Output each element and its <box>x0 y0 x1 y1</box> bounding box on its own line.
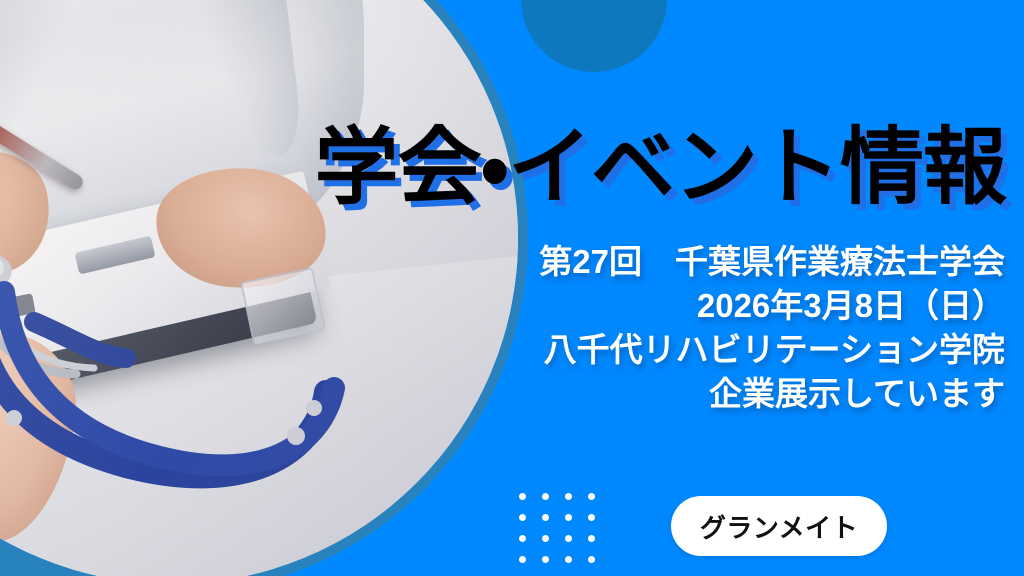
event-detail-line-venue: 八千代リハビリテーション学院 <box>245 328 1005 372</box>
dot-grid-decoration <box>519 493 611 576</box>
dot <box>542 535 549 542</box>
brand-cta-button[interactable]: グランメイト <box>671 496 887 556</box>
dot <box>588 556 595 563</box>
dot <box>565 535 572 542</box>
dot <box>542 556 549 563</box>
event-banner: 学会・イベント情報 第27回 千葉県作業療法士学会 2026年3月8日（日） 八… <box>0 0 1024 576</box>
dot <box>519 556 526 563</box>
dot <box>588 535 595 542</box>
dot <box>542 514 549 521</box>
dot <box>565 493 572 500</box>
dot <box>565 514 572 521</box>
event-detail-line-booth: 企業展示しています <box>245 372 1005 416</box>
dot <box>542 493 549 500</box>
dot <box>519 535 526 542</box>
event-detail-line-name: 第27回 千葉県作業療法士学会 <box>245 240 1005 284</box>
page-title: 学会・イベント情報 <box>206 125 1006 209</box>
decorative-circle-dark-blue <box>521 0 667 72</box>
dot <box>588 493 595 500</box>
dot <box>565 556 572 563</box>
dot <box>519 514 526 521</box>
event-detail-line-date: 2026年3月8日（日） <box>245 284 1005 328</box>
dot <box>588 514 595 521</box>
event-details: 第27回 千葉県作業療法士学会 2026年3月8日（日） 八千代リハビリテーショ… <box>245 240 1005 416</box>
dot <box>519 493 526 500</box>
